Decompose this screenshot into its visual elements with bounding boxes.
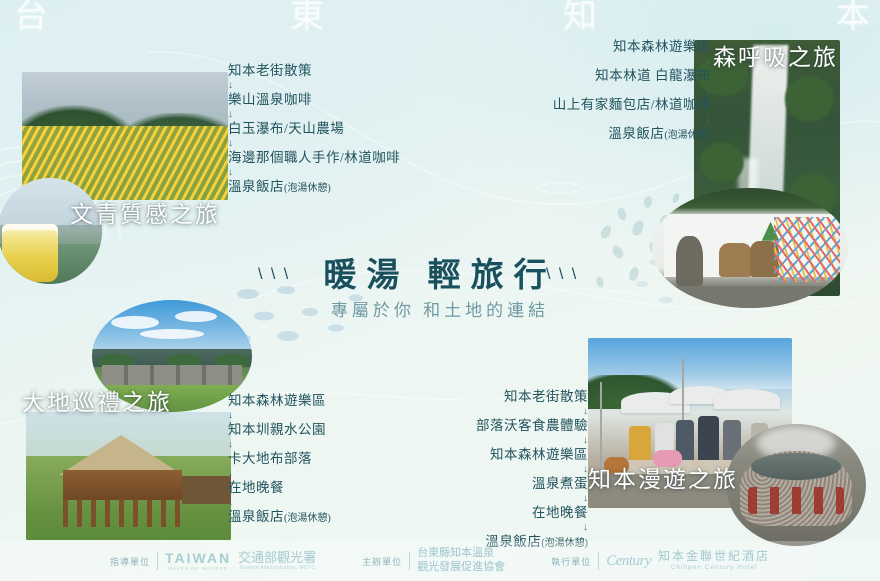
footer-label-guidance: 指導單位 — [110, 555, 150, 568]
page-title: 暖湯 輕旅行 — [0, 248, 880, 296]
footer-group-guidance: 指導單位 TAIWAN WAVES OF WONDER 交通部觀光署 Touri… — [110, 551, 316, 572]
itinerary-stop: 溫泉飯店(泡湯休憩) — [414, 127, 711, 142]
arrow-down-icon: ↓ — [330, 522, 588, 535]
arrow-down-icon: ↓ — [414, 56, 711, 69]
arrow-down-icon: ↓ — [228, 109, 400, 122]
footer-sponsors: 指導單位 TAIWAN WAVES OF WONDER 交通部觀光署 Touri… — [0, 541, 880, 581]
footer-label-executor: 執行單位 — [551, 555, 591, 568]
itinerary-stop: 溫泉煮蛋 — [330, 477, 588, 492]
logo-zhiben-association: 台東縣知本溫泉 觀光發展促進協會 — [417, 547, 505, 575]
arrow-down-icon: ↓ — [228, 497, 331, 510]
hotel-name-cn: 知本金聯世紀酒店 — [658, 550, 770, 562]
arrow-down-icon: ↓ — [228, 80, 400, 93]
corner-char-ben: 本 — [836, 0, 872, 34]
itinerary-stop: 在地晚餐 — [330, 506, 588, 521]
footer-label-organizer: 主辦單位 — [362, 555, 402, 568]
corner-char-zhi: 知 — [563, 0, 599, 34]
corner-char-dong: 東 — [290, 0, 326, 34]
logo-motc: 交通部觀光署 Tourism Administration, MOTC — [238, 551, 316, 571]
itinerary-stop-note: (泡湯休憩) — [664, 130, 711, 141]
arrow-down-icon: ↓ — [228, 167, 400, 180]
itinerary-stop: 卡大地布部落 — [228, 452, 331, 467]
footer-group-executor: 執行單位 Century 知本金聯世紀酒店 Chihpen Century Ho… — [551, 550, 770, 572]
itinerary-stroll: 知本老街散策↓部落沃客食農體驗↓知本森林遊樂區↓溫泉煮蛋↓在地晚餐↓溫泉飯店(泡… — [330, 390, 588, 550]
arrow-down-icon: ↓ — [330, 493, 588, 506]
itinerary-stop: 知本林道 白龍瀑布 — [414, 69, 711, 84]
arrow-down-icon: ↓ — [414, 85, 711, 98]
page-subtitle: 專屬於你 和土地的連結 — [0, 296, 880, 321]
footer-divider — [409, 552, 410, 570]
itinerary-stop: 知本森林遊樂區 — [330, 448, 588, 463]
itinerary-stop: 白玉瀑布/天山農場 — [228, 122, 400, 137]
itinerary-stop: 山上有家麵包店/林道咖啡 — [414, 98, 711, 113]
itinerary-stop: 知本老街散策 — [228, 64, 400, 79]
hotel-name-en: Chihpen Century Hotel — [671, 565, 758, 572]
itinerary-stop-note: (泡湯休憩) — [284, 183, 331, 194]
itinerary-stop: 溫泉飯店(泡湯休憩) — [228, 510, 331, 525]
poster-canvas: 台 東 知 本 — [0, 0, 880, 581]
footer-divider — [598, 552, 599, 570]
itinerary-forest: 知本森林遊樂區↓知本林道 白龍瀑布↓山上有家麵包店/林道咖啡↓溫泉飯店(泡湯休憩… — [414, 40, 711, 142]
footer-divider — [157, 552, 158, 570]
taiwan-logo-tagline: WAVES OF WONDER — [168, 567, 228, 572]
itinerary-stop: 海邊那個職人手作/林道咖啡 — [228, 151, 400, 166]
itinerary-stop: 知本老街散策 — [330, 390, 588, 405]
itinerary-earth: 知本森林遊樂區↓知本圳親水公園↓卡大地布部落↓在地晚餐↓溫泉飯店(泡湯休憩) — [228, 394, 331, 525]
logo-chihpen-century-hotel: 知本金聯世紀酒店 Chihpen Century Hotel — [658, 550, 770, 572]
motc-name-en: Tourism Administration, MOTC — [239, 566, 315, 571]
motc-name-cn: 交通部觀光署 — [238, 551, 316, 564]
arrow-down-icon: ↓ — [414, 114, 711, 127]
photo-stilt-house — [26, 412, 231, 540]
itinerary-stop: 在地晚餐 — [228, 481, 331, 496]
photo-hot-spring-egg-pot — [726, 424, 866, 546]
arrow-down-icon: ↓ — [330, 464, 588, 477]
itinerary-stop-note: (泡湯休憩) — [284, 513, 331, 524]
itinerary-stop: 知本圳親水公園 — [228, 423, 331, 438]
itinerary-stop: 部落沃客食農體驗 — [330, 419, 588, 434]
association-line-2: 觀光發展促進協會 — [417, 561, 505, 575]
taiwan-logo-text: TAIWAN — [165, 551, 231, 565]
arrow-down-icon: ↓ — [228, 439, 331, 452]
corner-char-tai: 台 — [14, 0, 50, 34]
itinerary-stop: 知本森林遊樂區 — [228, 394, 331, 409]
arrow-down-icon: ↓ — [330, 406, 588, 419]
arrow-down-icon: ↓ — [228, 138, 400, 151]
footer-group-organizer: 主辦單位 台東縣知本溫泉 觀光發展促進協會 — [362, 547, 505, 575]
itinerary-stop: 知本森林遊樂區 — [414, 40, 711, 55]
association-line-1: 台東縣知本溫泉 — [417, 547, 494, 561]
logo-taiwan: TAIWAN WAVES OF WONDER — [165, 551, 231, 572]
itinerary-literary: 知本老街散策↓樂山溫泉咖啡↓白玉瀑布/天山農場↓海邊那個職人手作/林道咖啡↓溫泉… — [228, 64, 400, 195]
century-script-logo: Century — [606, 554, 651, 569]
arrow-down-icon: ↓ — [228, 468, 331, 481]
itinerary-stop: 樂山溫泉咖啡 — [228, 93, 400, 108]
arrow-down-icon: ↓ — [228, 410, 331, 423]
arrow-down-icon: ↓ — [330, 435, 588, 448]
itinerary-stop: 溫泉飯店(泡湯休憩) — [228, 180, 400, 195]
